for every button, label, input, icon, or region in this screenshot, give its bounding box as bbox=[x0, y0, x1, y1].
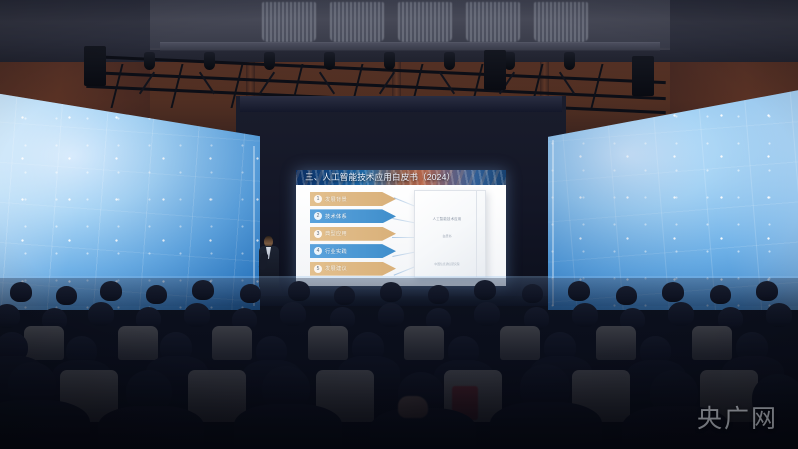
slide-title-bar: 三、人工智能技术应用白皮书（2024） bbox=[296, 170, 506, 185]
broadcaster-watermark: 央广网 bbox=[697, 404, 778, 434]
presentation-slide: 三、人工智能技术应用白皮书（2024） 1 发展背景 2 技术体系 3 典型应用… bbox=[296, 170, 506, 286]
book-subtitle: 白皮书 bbox=[424, 234, 470, 238]
line-array-speaker bbox=[484, 50, 506, 90]
stage-light-fixture bbox=[204, 52, 215, 70]
stage-backdrop-trim bbox=[240, 96, 562, 112]
stage-light-fixture bbox=[384, 52, 395, 70]
slide-title: 三、人工智能技术应用白皮书（2024） bbox=[305, 171, 455, 184]
slide-body: 1 发展背景 2 技术体系 3 典型应用 4 行业实践 5 发展建议 bbox=[296, 185, 506, 286]
list-item-number: 5 bbox=[314, 265, 322, 273]
stage-light-fixture bbox=[264, 52, 275, 70]
slide-list-item: 2 技术体系 bbox=[310, 209, 396, 223]
list-item-label: 典型应用 bbox=[325, 230, 347, 237]
list-item-label: 行业实践 bbox=[325, 248, 347, 255]
slide-list-item: 3 典型应用 bbox=[310, 227, 396, 241]
line-array-speaker bbox=[84, 46, 106, 86]
stage-light-fixture bbox=[324, 52, 335, 70]
truss-upright bbox=[591, 64, 604, 108]
stage-light-fixture bbox=[564, 52, 575, 70]
truss-brace bbox=[259, 72, 275, 95]
audience-seating bbox=[0, 278, 798, 449]
stage-light-fixture bbox=[144, 52, 155, 70]
list-item-number: 4 bbox=[314, 247, 322, 255]
slide-list-item: 1 发展背景 bbox=[310, 192, 396, 206]
truss-brace bbox=[379, 72, 395, 95]
slide-list-item: 5 发展建议 bbox=[310, 262, 396, 276]
audience-shadow-overlay bbox=[0, 278, 798, 449]
whitepaper-book-cover: 人工智能技术应用 白皮书 中国信息通信研究院 bbox=[414, 190, 486, 278]
list-item-label: 技术体系 bbox=[325, 213, 347, 220]
slide-arrow-list: 1 发展背景 2 技术体系 3 典型应用 4 行业实践 5 发展建议 bbox=[310, 192, 396, 279]
slide-list-item: 4 行业实践 bbox=[310, 244, 396, 258]
truss-brace bbox=[439, 72, 455, 95]
list-item-label: 发展建议 bbox=[325, 265, 347, 272]
truss-upright bbox=[171, 64, 184, 108]
stage-light-fixture bbox=[444, 52, 455, 70]
line-array-speaker bbox=[632, 56, 654, 96]
book-spine bbox=[476, 191, 477, 277]
truss-brace bbox=[559, 72, 575, 95]
list-item-number: 2 bbox=[314, 212, 322, 220]
list-item-number: 3 bbox=[314, 230, 322, 238]
conference-photo: 三、人工智能技术应用白皮书（2024） 1 发展背景 2 技术体系 3 典型应用… bbox=[0, 0, 798, 449]
list-item-number: 1 bbox=[314, 195, 322, 203]
list-item-label: 发展背景 bbox=[325, 196, 347, 203]
book-publisher: 中国信息通信研究院 bbox=[424, 263, 470, 267]
book-title: 人工智能技术应用 bbox=[424, 217, 470, 222]
